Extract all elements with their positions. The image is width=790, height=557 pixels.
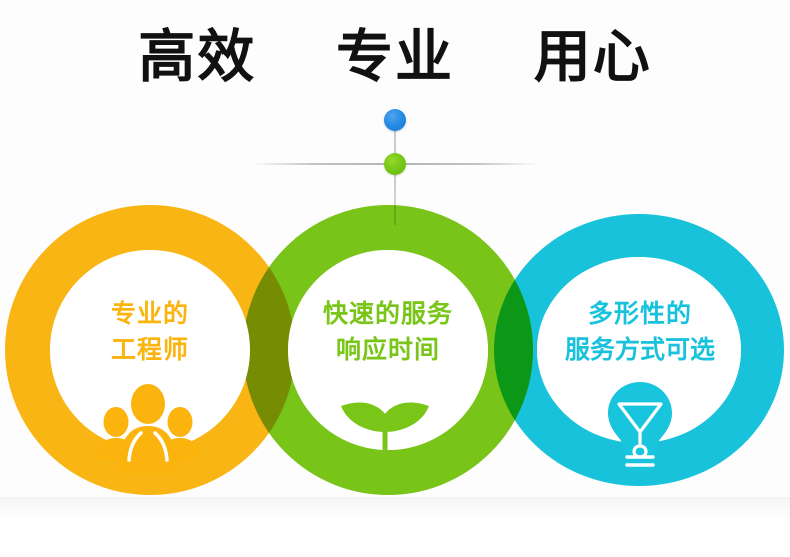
poster-canvas: 高效 专业 用心 专业的 工程师: [0, 0, 790, 557]
circle-engineers-line2: 工程师: [30, 332, 270, 368]
circle-response-line1: 快速的服务: [263, 296, 513, 332]
people-icon: [88, 382, 208, 474]
circle-service-modes-line1: 多形性的: [505, 296, 775, 332]
sprout-icon: [325, 382, 445, 476]
circle-text-service-modes: 多形性的 服务方式可选: [505, 296, 775, 368]
floor-shadow: [0, 497, 790, 519]
circle-engineers-line1: 专业的: [30, 296, 270, 332]
circle-text-response: 快速的服务 响应时间: [263, 296, 513, 368]
circle-text-engineers: 专业的 工程师: [30, 296, 270, 368]
lightbulb-icon: [590, 380, 690, 472]
circle-response-line2: 响应时间: [263, 332, 513, 368]
circle-service-modes-line2: 服务方式可选: [505, 332, 775, 368]
